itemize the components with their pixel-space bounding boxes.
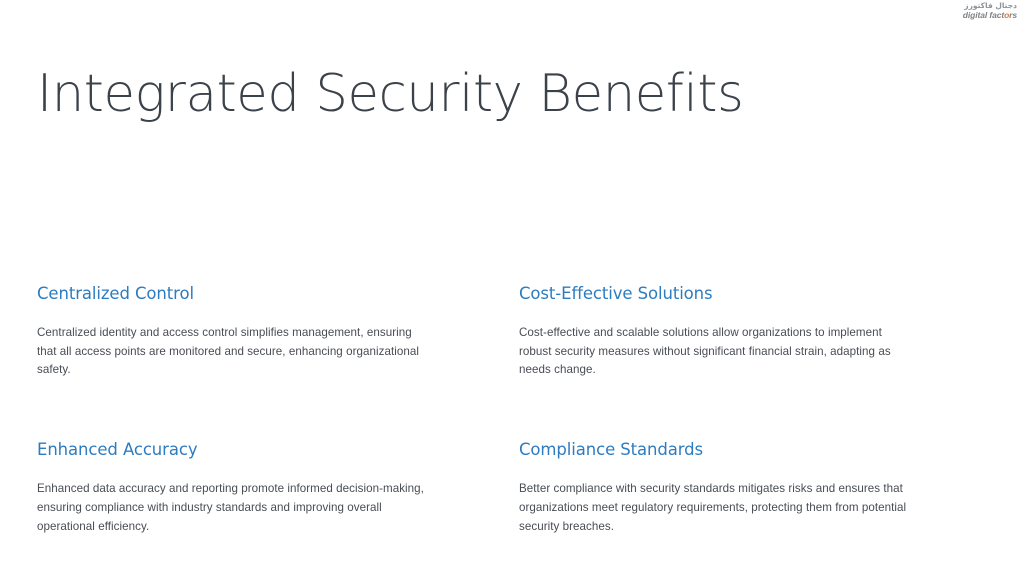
benefit-card-compliance-standards: Compliance Standards Better compliance w… — [519, 440, 939, 536]
benefit-card-centralized-control: Centralized Control Centralized identity… — [37, 284, 519, 380]
brand-logo-arabic: دجتال فاكتورز — [945, 2, 1017, 10]
brand-logo-english-suffix: rs — [1009, 10, 1017, 20]
benefit-description: Better compliance with security standard… — [519, 480, 911, 536]
benefit-description: Enhanced data accuracy and reporting pro… — [37, 480, 429, 536]
benefit-description: Centralized identity and access control … — [37, 324, 429, 380]
slide-canvas: دجتال فاكتورز digital factors Integrated… — [0, 0, 1024, 576]
benefit-card-enhanced-accuracy: Enhanced Accuracy Enhanced data accuracy… — [37, 440, 519, 536]
benefit-description: Cost-effective and scalable solutions al… — [519, 324, 911, 380]
benefit-title: Centralized Control — [37, 284, 519, 304]
benefit-title: Compliance Standards — [519, 440, 939, 460]
benefit-card-cost-effective-solutions: Cost-Effective Solutions Cost-effective … — [519, 284, 939, 380]
brand-logo-english-prefix: digital fact — [963, 10, 1004, 20]
benefits-grid: Centralized Control Centralized identity… — [37, 284, 987, 536]
benefit-title: Enhanced Accuracy — [37, 440, 519, 460]
page-title: Integrated Security Benefits — [37, 65, 743, 125]
benefit-title: Cost-Effective Solutions — [519, 284, 939, 304]
brand-logo-english: digital factors — [945, 11, 1017, 20]
brand-logo: دجتال فاكتورز digital factors — [945, 2, 1017, 20]
